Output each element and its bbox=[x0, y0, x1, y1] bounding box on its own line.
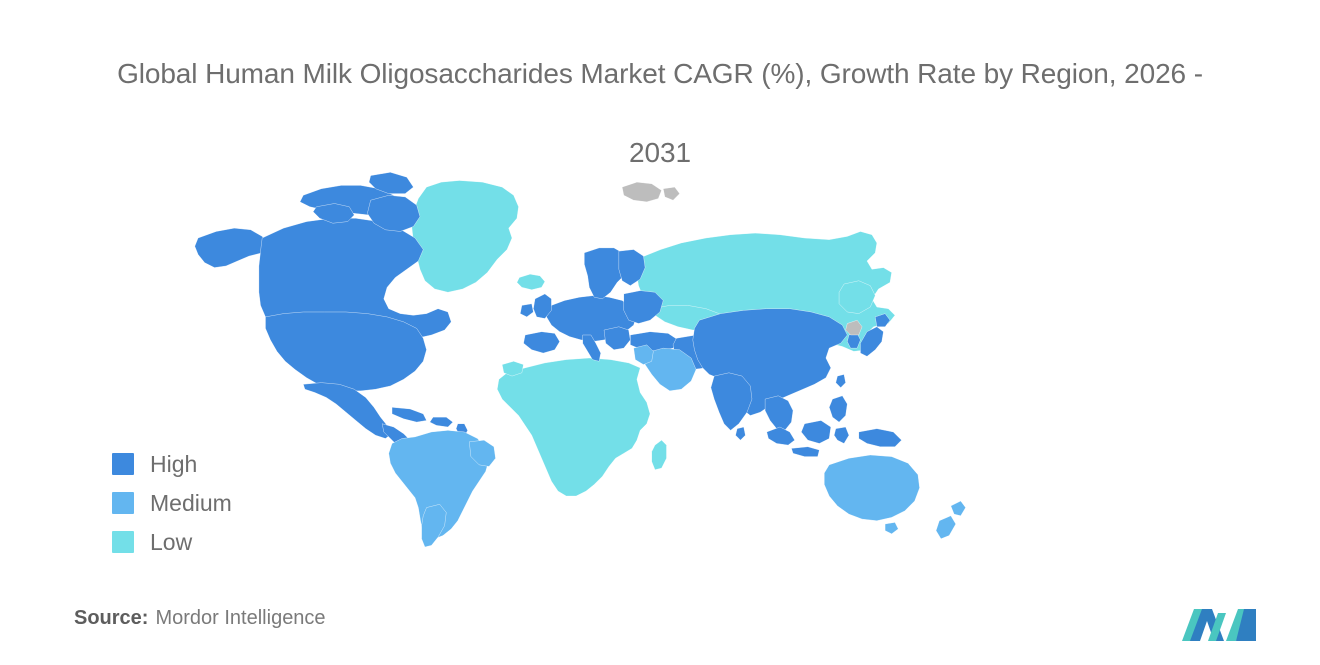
region-new-zealand[interactable] bbox=[951, 501, 966, 516]
region-australia[interactable] bbox=[824, 455, 919, 521]
region-madagascar[interactable] bbox=[652, 440, 667, 470]
region-svalbard[interactable] bbox=[622, 182, 661, 202]
world-choropleth-map bbox=[180, 148, 1010, 568]
region-hispaniola[interactable] bbox=[430, 417, 453, 427]
source-value: Mordor Intelligence bbox=[155, 607, 325, 629]
region-africa[interactable] bbox=[497, 358, 650, 496]
region-taiwan[interactable] bbox=[836, 374, 846, 387]
region-borneo[interactable] bbox=[801, 420, 831, 443]
source-line: Source:Mordor Intelligence bbox=[74, 607, 326, 630]
legend-label-medium: Medium bbox=[150, 492, 232, 515]
legend-item-medium[interactable]: Medium bbox=[112, 489, 232, 517]
region-india[interactable] bbox=[711, 373, 752, 431]
region-southeast-asia[interactable] bbox=[765, 396, 793, 431]
region-tasmania[interactable] bbox=[885, 522, 898, 534]
legend-swatch-medium bbox=[112, 492, 134, 514]
region-alaska[interactable] bbox=[195, 228, 269, 267]
region-sri-lanka[interactable] bbox=[736, 427, 746, 440]
footer: Source:Mordor Intelligence bbox=[0, 601, 1320, 647]
region-new-guinea[interactable] bbox=[859, 429, 902, 447]
region-sulawesi[interactable] bbox=[834, 427, 849, 443]
region-iceland[interactable] bbox=[517, 274, 545, 290]
region-eastern-europe[interactable] bbox=[624, 291, 663, 324]
legend-label-low: Low bbox=[150, 531, 192, 554]
mordor-intelligence-logo-icon bbox=[1178, 601, 1262, 645]
region-balkans[interactable] bbox=[604, 327, 630, 350]
region-philippines[interactable] bbox=[829, 396, 847, 422]
world-map-svg bbox=[180, 148, 1010, 568]
region-new-zealand-south[interactable] bbox=[936, 516, 956, 539]
legend-item-high[interactable]: High bbox=[112, 450, 232, 478]
legend-swatch-low bbox=[112, 531, 134, 553]
region-greenland[interactable] bbox=[412, 180, 519, 292]
region-southern-cone[interactable] bbox=[422, 504, 447, 547]
region-cuba[interactable] bbox=[392, 407, 427, 422]
legend-label-high: High bbox=[150, 453, 197, 476]
region-sumatra[interactable] bbox=[767, 427, 795, 445]
region-iberia[interactable] bbox=[524, 332, 560, 353]
legend-item-low[interactable]: Low bbox=[112, 528, 232, 556]
source-label: Source: bbox=[74, 607, 148, 629]
region-mexico[interactable] bbox=[303, 383, 392, 439]
legend-swatch-high bbox=[112, 453, 134, 475]
region-ireland[interactable] bbox=[520, 304, 533, 317]
mordor-intelligence-logo[interactable] bbox=[1178, 601, 1262, 645]
map-legend: High Medium Low bbox=[112, 450, 232, 556]
region-svalbard-east[interactable] bbox=[663, 187, 679, 200]
region-java[interactable] bbox=[791, 447, 819, 457]
region-united-states[interactable] bbox=[265, 312, 426, 391]
page-title-line-1: Global Human Milk Oligosaccharides Marke… bbox=[117, 58, 1203, 89]
